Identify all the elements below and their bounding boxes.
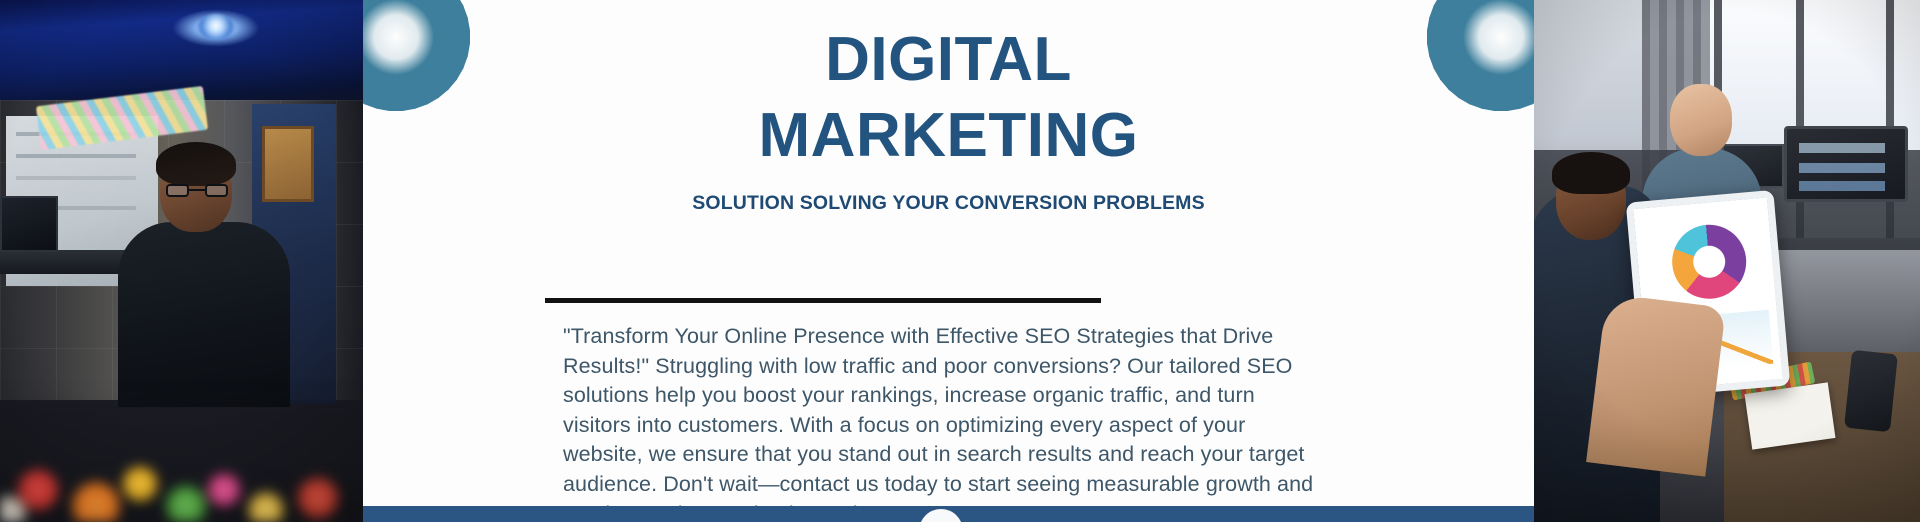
page-title: DIGITAL MARKETING <box>363 22 1534 174</box>
office-portrait-photo <box>0 0 363 522</box>
title-line-2: MARKETING <box>363 98 1534 174</box>
body-paragraph: "Transform Your Online Presence with Eff… <box>563 322 1328 522</box>
subtitle: SOLUTION SOLVING YOUR CONVERSION PROBLEM… <box>363 192 1534 215</box>
photo-vignette <box>1534 0 1920 522</box>
content-panel: DIGITAL MARKETING SOLUTION SOLVING YOUR … <box>363 0 1534 522</box>
banner-canvas: DIGITAL MARKETING SOLUTION SOLVING YOUR … <box>0 0 1920 522</box>
title-line-1: DIGITAL <box>363 22 1534 98</box>
divider <box>545 298 1101 303</box>
team-meeting-photo <box>1534 0 1920 522</box>
body-copy: "Transform Your Online Presence with Eff… <box>563 322 1328 522</box>
photo-vignette <box>0 0 363 522</box>
